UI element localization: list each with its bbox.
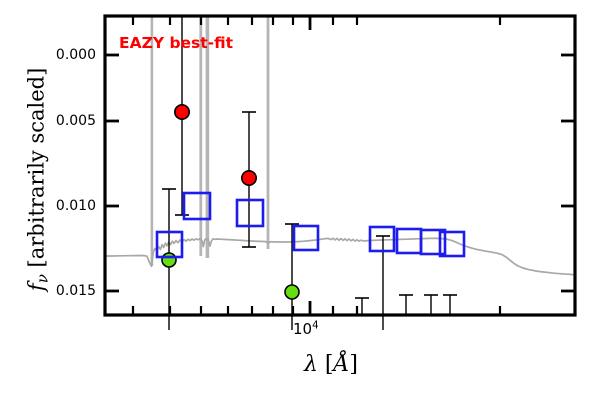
y-tick-label-3: 0.000: [24, 47, 96, 63]
model-spectrum: [105, 16, 575, 275]
marker-green-circle: [285, 285, 299, 299]
model-photometry-squares: [157, 193, 464, 257]
marker-blue-square: [397, 229, 421, 253]
marker-blue-square: [294, 226, 318, 250]
axes-frame: [105, 16, 575, 315]
photometry-points: [157, 16, 464, 330]
emission-spike-4: [267, 16, 270, 249]
x-axis-ticks: [133, 16, 500, 315]
emission-spike-3: [206, 16, 210, 258]
x-tick-label-1e4: 104: [293, 320, 319, 338]
marker-red-circle: [175, 105, 189, 119]
marker-green-circle: [162, 253, 176, 267]
marker-red-circle: [242, 171, 256, 185]
marker-blue-square: [237, 200, 263, 226]
emission-spike-1: [151, 16, 154, 266]
marker-blue-square: [421, 230, 445, 254]
y-tick-label-0: 0.015: [24, 283, 96, 299]
x-axis-label: λ [Å]: [0, 352, 600, 377]
sed-figure: 0.015 0.010 0.005 0.000 104 EAZY best-fi…: [0, 0, 600, 400]
y-tick-label-1: 0.010: [24, 198, 96, 214]
eazy-best-fit-annotation: EAZY best-fit: [119, 34, 233, 52]
upper-limit-ticks: [355, 295, 457, 316]
y-tick-label-2: 0.005: [24, 113, 96, 129]
